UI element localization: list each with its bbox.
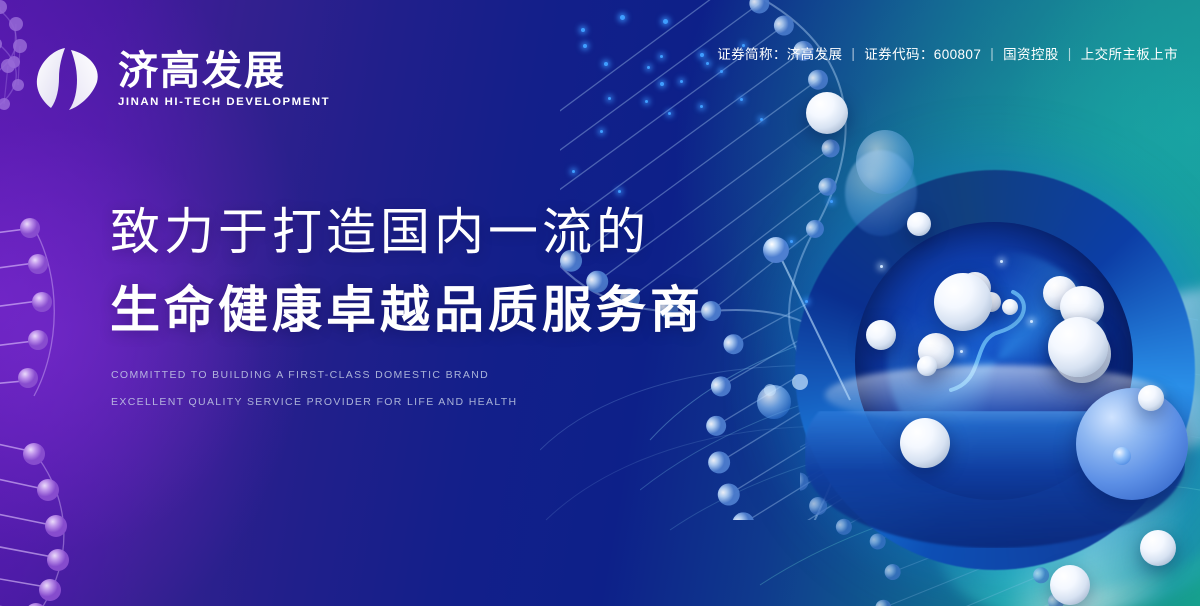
stock-abbreviation: 证券简称：济高发展 [717, 43, 842, 63]
sparkle [1030, 320, 1033, 323]
orbit-arcs [640, 200, 1200, 600]
teal-ribbon-1 [906, 350, 1200, 606]
molecule-sphere-7 [918, 333, 954, 369]
disc-s-curve [881, 240, 1111, 470]
subtitle-line-1: COMMITTED TO BUILDING A FIRST-CLASS DOME… [111, 370, 517, 381]
sparkle [618, 190, 621, 193]
teal-ribbon-3 [949, 421, 1200, 606]
glow-purple [0, 120, 260, 560]
sparkle [760, 118, 763, 121]
sparkle [700, 53, 704, 57]
sparkle [660, 82, 664, 86]
sparkle [668, 112, 671, 115]
disc-inner [855, 222, 1133, 500]
sphere-tiny-teal [1113, 447, 1131, 465]
stock-info-bar: 证券简称：济高发展 | 证券代码：600807 | 国资控股 | 上交所主板上市 [717, 43, 1178, 63]
brand-name-cn: 济高发展 [118, 50, 330, 92]
molecule-sphere-2 [981, 292, 1001, 312]
molecule-sphere-1 [959, 272, 991, 304]
separator: | [851, 46, 855, 61]
molecule-sphere-5 [1060, 286, 1104, 328]
orbit-arcs-lower [540, 330, 1020, 606]
disc-rim [795, 170, 1195, 570]
ownership-type: 国资控股 [1003, 43, 1059, 63]
sparkle [604, 62, 608, 66]
sparkle [680, 80, 683, 83]
sparkle [647, 66, 650, 69]
sphere-small-a [907, 212, 931, 236]
separator: | [990, 46, 994, 61]
subtitle-line-2: EXCELLENT QUALITY SERVICE PROVIDER FOR L… [111, 397, 517, 408]
disc-base [805, 358, 1185, 548]
sparkle [608, 97, 611, 100]
sparkle [706, 62, 709, 65]
sparkle [960, 350, 963, 353]
hero-subtitle: COMMITTED TO BUILDING A FIRST-CLASS DOME… [111, 370, 517, 407]
sparkle [1000, 260, 1003, 263]
molecule-sphere-10 [1053, 325, 1111, 383]
glow-blue [880, 180, 1200, 580]
sphere-large-right [1048, 317, 1108, 377]
sparkle [740, 98, 743, 101]
sparkle [620, 15, 625, 20]
teal-ribbon-2 [1003, 249, 1200, 500]
sparkle [645, 100, 648, 103]
molecule-sphere-8 [917, 356, 937, 376]
sparkle [583, 44, 587, 48]
sparkle [805, 300, 808, 303]
molecule-sphere-6 [866, 320, 896, 350]
brand-name-en: JINAN HI-TECH DEVELOPMENT [118, 96, 330, 108]
sparkle [572, 170, 575, 173]
headline-line-1: 致力于打造国内一流的 [110, 204, 704, 260]
sphere-white-top [806, 92, 848, 134]
hero-headline: 致力于打造国内一流的 生命健康卓越品质服务商 [110, 204, 704, 338]
sphere-glow-b [845, 150, 917, 236]
brand-logo[interactable]: 济高发展 JINAN HI-TECH DEVELOPMENT [31, 42, 330, 116]
sphere-glow-a [856, 130, 914, 194]
listing-board: 上交所主板上市 [1081, 43, 1178, 63]
sparkle [720, 70, 723, 73]
swirling-disc [795, 170, 1200, 590]
brand-logo-text: 济高发展 JINAN HI-TECH DEVELOPMENT [118, 50, 330, 108]
disc-swirl [887, 250, 1107, 470]
sparkle [600, 130, 603, 133]
sparkle [581, 28, 585, 32]
sparkle [830, 200, 833, 203]
sphere-blue-large [1076, 388, 1188, 500]
sphere-bottom-b [1140, 530, 1176, 566]
molecule-sphere-11 [900, 418, 950, 468]
sparkle [663, 19, 668, 24]
sparkle [660, 55, 663, 58]
molecule-sphere-4 [1043, 276, 1077, 310]
separator: | [1068, 46, 1072, 61]
jinan-hi-tech-diamond-logo-icon [31, 42, 105, 116]
stick-molecule [740, 230, 880, 430]
sparkle [880, 265, 883, 268]
headline-line-2: 生命健康卓越品质服务商 [110, 282, 704, 338]
disc-highlight [825, 365, 1165, 425]
molecule-sphere-9 [1056, 326, 1074, 344]
dna-helix-blue-tail [800, 330, 1130, 606]
sphere-small-b [757, 385, 791, 419]
sphere-blue-satellite [1138, 385, 1164, 411]
sphere-bottom-a [1050, 565, 1090, 605]
sphere-large-center [934, 273, 992, 331]
sparkle [700, 105, 703, 108]
sparkle [790, 240, 793, 243]
stock-code: 证券代码：600807 [864, 43, 981, 63]
molecule-sphere-3 [1002, 299, 1018, 315]
hero-banner: 济高发展 JINAN HI-TECH DEVELOPMENT 证券简称：济高发展… [0, 0, 1200, 606]
